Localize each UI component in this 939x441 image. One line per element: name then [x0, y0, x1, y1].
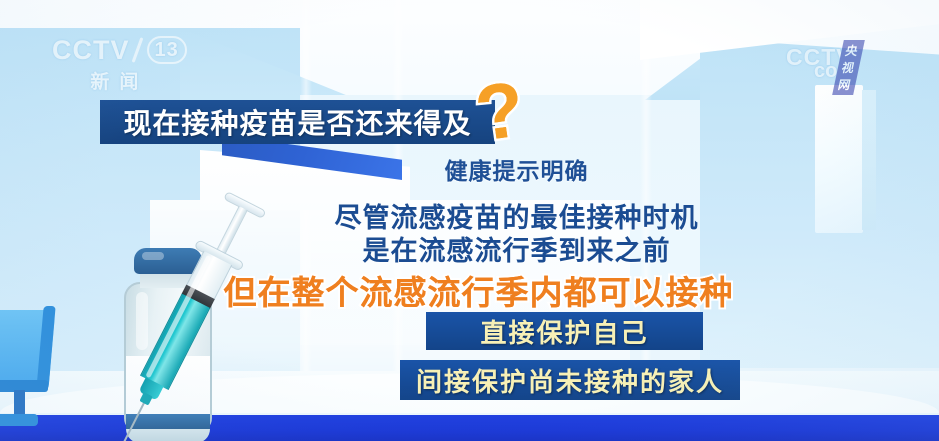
benefit-banner-2: 间接保护尚未接种的家人	[400, 360, 740, 400]
headline-banner: 现在接种疫苗是否还来得及	[100, 100, 495, 144]
body-line-2: 是在流感流行季到来之前	[0, 229, 939, 268]
benefit-label-2: 间接保护尚未接种的家人	[416, 362, 724, 399]
cctv-channel-number: 13	[147, 36, 187, 64]
cctv-wordmark: CCTV	[52, 36, 130, 64]
waiting-chair-foot	[0, 414, 38, 426]
cctv-logo-row: CCTV 13	[52, 36, 187, 64]
cctv-channel-logo: CCTV 13 新闻	[52, 36, 187, 94]
vial-bottom	[126, 429, 210, 441]
cctv-com-watermark: CCTV com 央视网	[786, 44, 853, 71]
cctv-slash-icon	[130, 36, 146, 64]
highlight-text: 但在整个流感流行季内都可以接种	[0, 266, 939, 314]
headline-text: 现在接种疫苗是否还来得及	[123, 102, 471, 142]
news-broadcast-frame: CCTV 13 新闻 CCTV com 央视网 现在接种疫苗是否还来得及 ? ?…	[0, 0, 939, 441]
benefit-label-1: 直接保护自己	[480, 313, 648, 350]
benefit-banner-1: 直接保护自己	[426, 312, 703, 350]
cctv-channel-label: 新闻	[52, 67, 187, 94]
subtitle-text: 健康提示明确	[0, 152, 939, 186]
